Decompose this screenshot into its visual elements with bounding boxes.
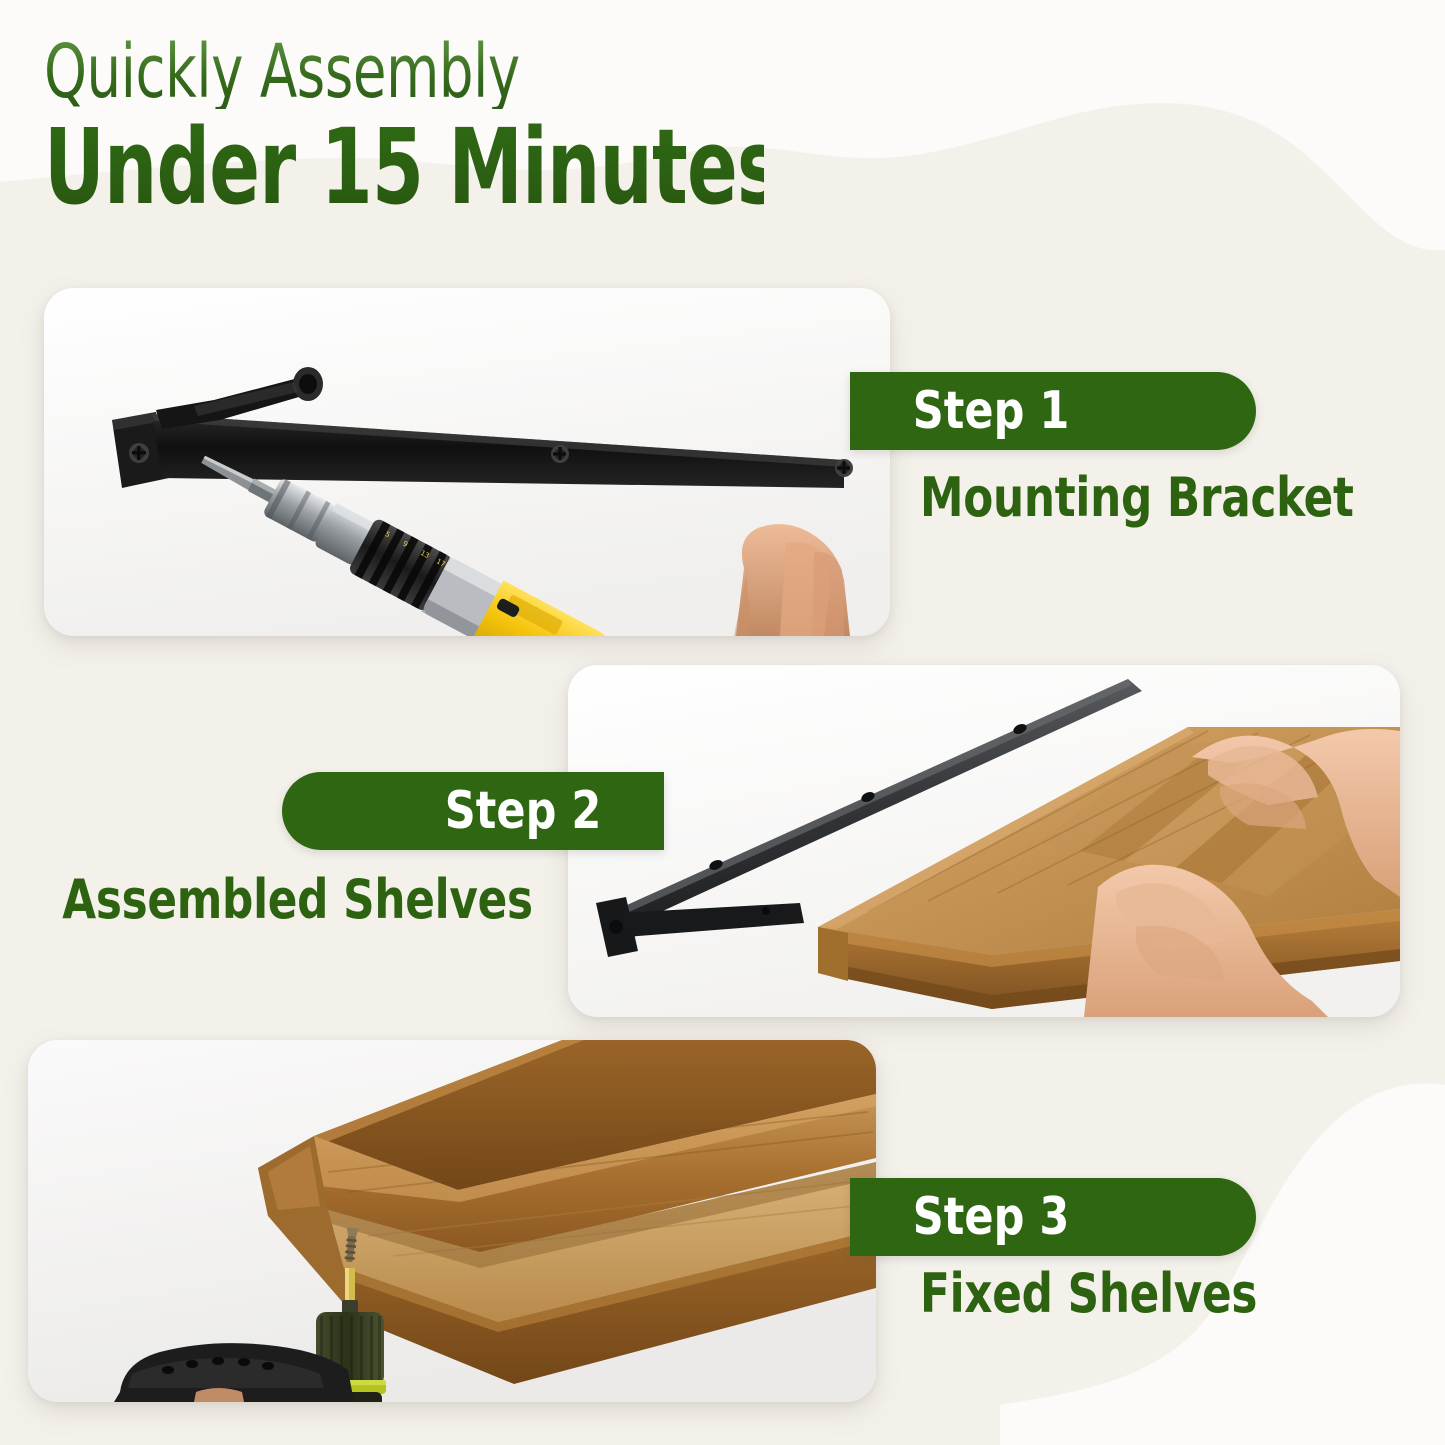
step-2-photo <box>568 665 1400 1017</box>
step-1-photo-card: 59 1317 <box>44 288 890 636</box>
step-3-photo-card <box>28 1040 876 1402</box>
step-1-label: Mounting Bracket <box>920 466 1402 529</box>
headline-subtitle: Quickly Assembly <box>44 36 782 109</box>
step-2-photo-card <box>568 665 1400 1017</box>
infographic-canvas: Quickly Assembly Under 15 Minutes <box>0 0 1445 1445</box>
step-3-badge-label: Step 3 <box>913 1187 1070 1247</box>
step-1-photo: 59 1317 <box>44 288 890 636</box>
step-1-badge-label: Step 1 <box>913 381 1070 441</box>
assembled-shelf-illustration <box>568 665 1400 1017</box>
fixed-shelf-illustration <box>28 1040 876 1402</box>
mounting-bracket-illustration: 59 1317 <box>44 288 890 636</box>
step-3-badge: Step 3 <box>850 1178 1256 1256</box>
step-2-badge-label: Step 2 <box>445 781 602 841</box>
step-1-badge: Step 1 <box>850 372 1256 450</box>
step-3-label: Fixed Shelves <box>920 1262 1295 1325</box>
step-3-photo <box>28 1040 876 1402</box>
step-2-label: Assembled Shelves <box>10 868 533 931</box>
step-2-badge: Step 2 <box>282 772 664 850</box>
page-title-block: Quickly Assembly Under 15 Minutes <box>44 36 944 219</box>
headline-title: Under 15 Minutes <box>44 115 764 219</box>
